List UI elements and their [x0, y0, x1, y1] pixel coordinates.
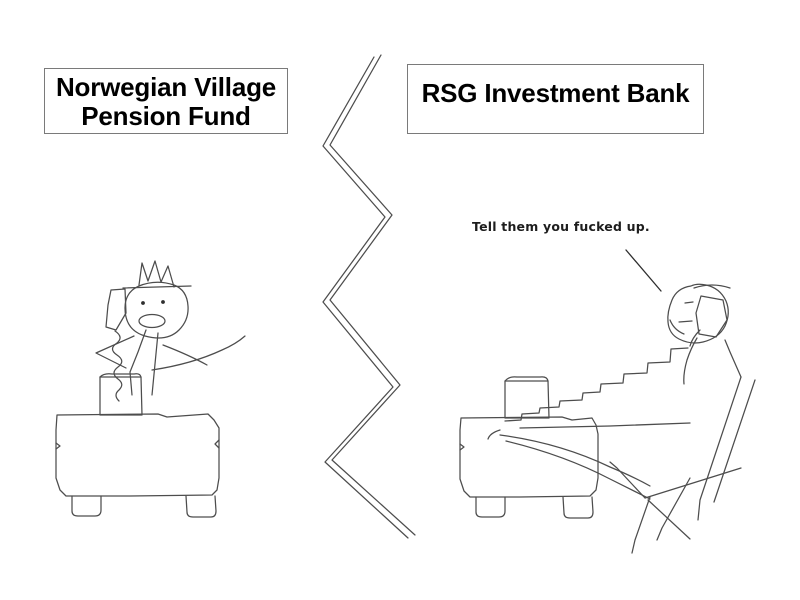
zigzag-divider-icon	[323, 55, 415, 538]
comic-canvas: Norwegian Village Pension Fund RSG Inves…	[0, 0, 800, 600]
label-box-left: Norwegian Village Pension Fund	[44, 68, 288, 134]
left-figure-shouting-caller	[56, 261, 245, 517]
label-right-line1: RSG Investment Bank	[408, 79, 703, 108]
label-left-line2: Pension Fund	[45, 102, 287, 131]
right-figure-reclining-banker	[460, 250, 755, 553]
label-box-right: RSG Investment Bank	[407, 64, 704, 134]
label-left-line1: Norwegian Village	[45, 73, 287, 102]
caption-pointer-line	[626, 250, 661, 291]
caption-text: Tell them you fucked up.	[472, 219, 650, 234]
